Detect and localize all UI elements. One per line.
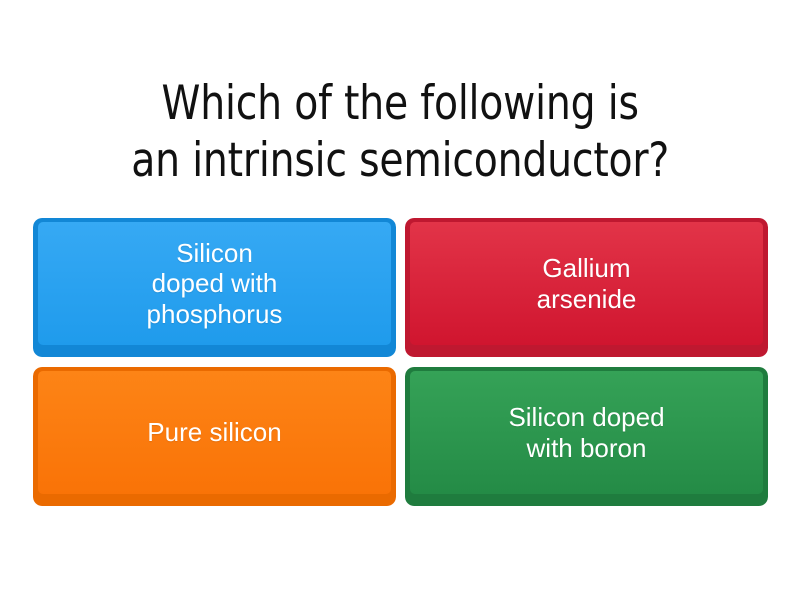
answer-option-1[interactable]: Silicon doped with phosphorus	[33, 218, 396, 357]
answer-option-2-label: Gallium arsenide	[537, 253, 637, 313]
answer-option-3[interactable]: Pure silicon	[33, 367, 396, 506]
answer-option-3-label: Pure silicon	[147, 417, 281, 447]
answer-options-grid: Silicon doped with phosphorus Gallium ar…	[33, 218, 768, 506]
question-area: Which of the following is an intrinsic s…	[0, 62, 800, 202]
answer-option-1-label: Silicon doped with phosphorus	[147, 238, 283, 328]
answer-option-4[interactable]: Silicon doped with boron	[405, 367, 768, 506]
answer-option-2[interactable]: Gallium arsenide	[405, 218, 768, 357]
quiz-card: Which of the following is an intrinsic s…	[0, 0, 800, 600]
question-text: Which of the following is an intrinsic s…	[131, 75, 669, 190]
answer-option-4-label: Silicon doped with boron	[508, 402, 664, 462]
